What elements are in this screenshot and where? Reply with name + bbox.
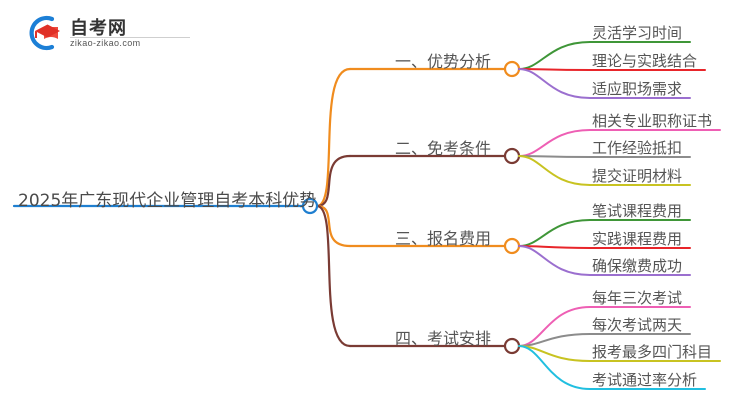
leaf-connector-4-3	[519, 346, 590, 361]
branch-node-1[interactable]	[505, 62, 519, 76]
site-logo: 自考网 zikao-zikao.com	[22, 8, 192, 56]
branch-trunk-3	[317, 206, 350, 246]
leaf-label-2-3[interactable]: 提交证明材料	[592, 165, 682, 186]
leaf-label-3-3[interactable]: 确保缴费成功	[592, 255, 682, 276]
leaf-connector-1-3	[519, 69, 590, 98]
leaf-label-3-2[interactable]: 实践课程费用	[592, 228, 682, 249]
leaf-connector-4-4	[519, 346, 590, 389]
leaf-connector-3-3	[519, 246, 590, 275]
branch-node-2[interactable]	[505, 149, 519, 163]
leaf-connector-3-1	[519, 220, 590, 246]
leaf-connector-4-1	[519, 307, 590, 346]
leaf-label-4-3[interactable]: 报考最多四门科目	[592, 341, 712, 362]
mindmap-canvas: 自考网 zikao-zikao.com 2025年广东现代企业管理自考本科优势 …	[0, 0, 750, 410]
branch-node-3[interactable]	[505, 239, 519, 253]
branch-label-2[interactable]: 二、免考条件	[395, 135, 491, 159]
leaf-label-4-2[interactable]: 每次考试两天	[592, 314, 682, 335]
leaf-label-4-1[interactable]: 每年三次考试	[592, 287, 682, 308]
leaf-label-2-2[interactable]: 工作经验抵扣	[592, 137, 682, 158]
leaf-label-1-1[interactable]: 灵活学习时间	[592, 22, 682, 43]
leaf-label-3-1[interactable]: 笔试课程费用	[592, 200, 682, 221]
logo-url: zikao-zikao.com	[70, 38, 141, 48]
root-node-label[interactable]: 2025年广东现代企业管理自考本科优势	[18, 186, 316, 211]
leaf-label-1-3[interactable]: 适应职场需求	[592, 78, 682, 99]
leaf-connector-2-3	[519, 156, 590, 185]
leaf-connector-4-2	[519, 334, 590, 346]
leaf-label-1-2[interactable]: 理论与实践结合	[592, 50, 697, 71]
branch-label-4[interactable]: 四、考试安排	[395, 325, 491, 349]
leaf-label-4-4[interactable]: 考试通过率分析	[592, 369, 697, 390]
branch-label-1[interactable]: 一、优势分析	[395, 48, 491, 72]
leaf-connector-1-2	[519, 69, 590, 70]
branch-trunk-1	[317, 69, 350, 206]
branch-label-3[interactable]: 三、报名费用	[395, 225, 491, 249]
leaf-connector-1-1	[519, 42, 590, 69]
leaf-connector-2-2	[519, 156, 590, 157]
branch-trunk-4	[317, 206, 350, 346]
leaf-label-2-1[interactable]: 相关专业职称证书	[592, 110, 712, 131]
graduation-cap-icon	[22, 14, 64, 52]
branch-trunk-2	[317, 156, 350, 206]
leaf-connector-3-2	[519, 246, 590, 248]
branch-node-4[interactable]	[505, 339, 519, 353]
leaf-connector-2-1	[519, 130, 590, 156]
